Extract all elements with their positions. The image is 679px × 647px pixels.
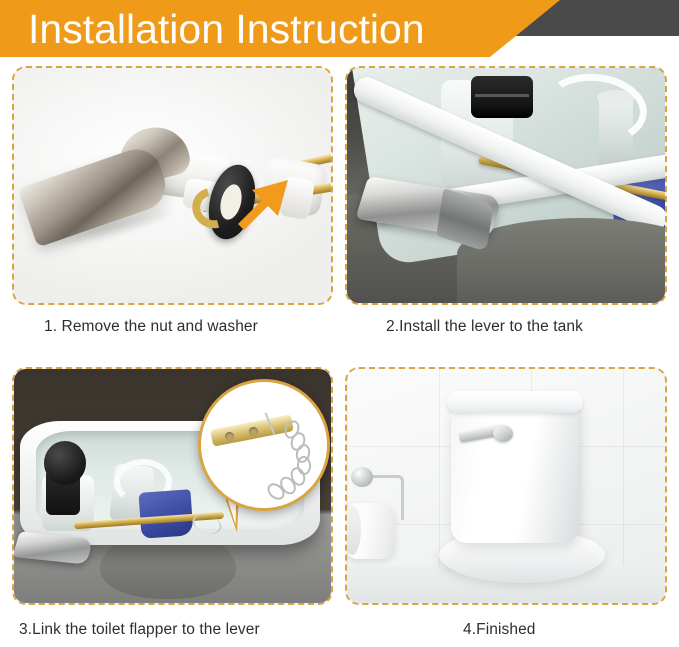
page-title: Installation Instruction: [28, 2, 425, 56]
step-4-caption: 4.Finished: [463, 621, 536, 639]
header-banner: Installation Instruction: [0, 0, 679, 60]
toilet-paper-holder-mount: [351, 467, 373, 487]
step-3-caption: 3.Link the toilet flapper to the lever: [19, 621, 260, 639]
fill-valve-cap: [44, 441, 86, 485]
step-4-photo: [347, 369, 665, 603]
flush-lever-knob: [493, 425, 513, 442]
step-3-image-panel: [12, 367, 333, 605]
step-3-photo: [14, 369, 331, 603]
step-1-photo: [14, 68, 331, 303]
step-2-caption: 2.Install the lever to the tank: [386, 318, 583, 336]
up-right-arrow-icon: [232, 172, 298, 234]
step-1-image-panel: [12, 66, 333, 305]
step-4-image-panel: [345, 367, 667, 605]
toilet-tank: [451, 395, 579, 543]
fill-valve-cap-seam: [475, 94, 529, 97]
toilet-tank-lid: [447, 391, 583, 413]
step-2-photo: [347, 68, 665, 303]
toilet-bowl: [447, 539, 597, 583]
step-2-image-panel: [345, 66, 667, 305]
step-1-caption: 1. Remove the nut and washer: [44, 318, 258, 336]
detail-callout-bubble: [198, 379, 330, 511]
fill-valve-cap: [471, 76, 533, 118]
